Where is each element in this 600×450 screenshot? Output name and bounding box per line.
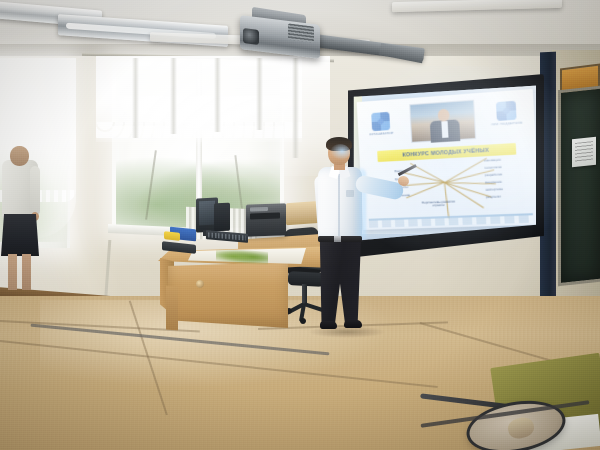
belt-buckle (334, 236, 341, 242)
printer[interactable] (246, 203, 286, 236)
curtain-fold (256, 58, 263, 130)
observer-arm (30, 166, 40, 216)
curtain-swag (96, 96, 302, 146)
shirt-placket (338, 174, 340, 236)
supporter-logo-caption: ПРИ ПОДДЕРЖКЕ (486, 121, 528, 127)
projector-lens (243, 28, 259, 45)
curtain-fold (132, 58, 139, 138)
standing-observer (0, 152, 46, 292)
observer-head (10, 146, 29, 166)
desk-front-panel (168, 262, 288, 328)
drawer-knob[interactable] (196, 280, 204, 288)
supporter-logo-icon (496, 101, 517, 121)
diagram-node: результат (486, 195, 501, 199)
diagram-node: инновации (484, 159, 501, 163)
curtain-fold (214, 58, 221, 132)
diagram-node: внедрение (485, 181, 502, 185)
posted-notice[interactable] (572, 137, 596, 168)
organizer-logo-caption: ОРГАНИЗАТОР (362, 131, 400, 137)
curtain-scallop-trim (96, 122, 302, 138)
yellow-object (164, 231, 180, 241)
curtain-fold (292, 58, 299, 158)
presenter-shoe (344, 320, 362, 328)
shirt-pocket (346, 190, 354, 197)
diagram-node: экспертиза (485, 188, 502, 192)
presenter (300, 140, 404, 336)
face-light-glare (330, 144, 350, 160)
organizer-logo-icon (371, 112, 390, 131)
second-display[interactable] (214, 203, 230, 232)
monitor-screen (199, 201, 215, 226)
desk-leg (166, 286, 178, 331)
diagram-node-bottom: Перспективы развития отрасли (421, 200, 457, 208)
observer-skirt (1, 214, 39, 256)
observer-leg (22, 254, 31, 290)
curtain-fold (170, 58, 177, 134)
diagram-node: разработки (485, 173, 503, 177)
photo-scene: ОРГАНИЗАТОР ПРИ ПОДДЕРЖКЕ КОНКУРС МОЛОДЫ… (0, 0, 600, 450)
presenter-shoe (320, 321, 337, 329)
chalkboard[interactable] (558, 86, 600, 286)
presenter-trousers (319, 240, 361, 324)
observer-leg (8, 254, 17, 290)
speaker-photo (409, 100, 476, 143)
projector-vent (288, 23, 314, 42)
diagram-node: технологии (484, 166, 502, 170)
